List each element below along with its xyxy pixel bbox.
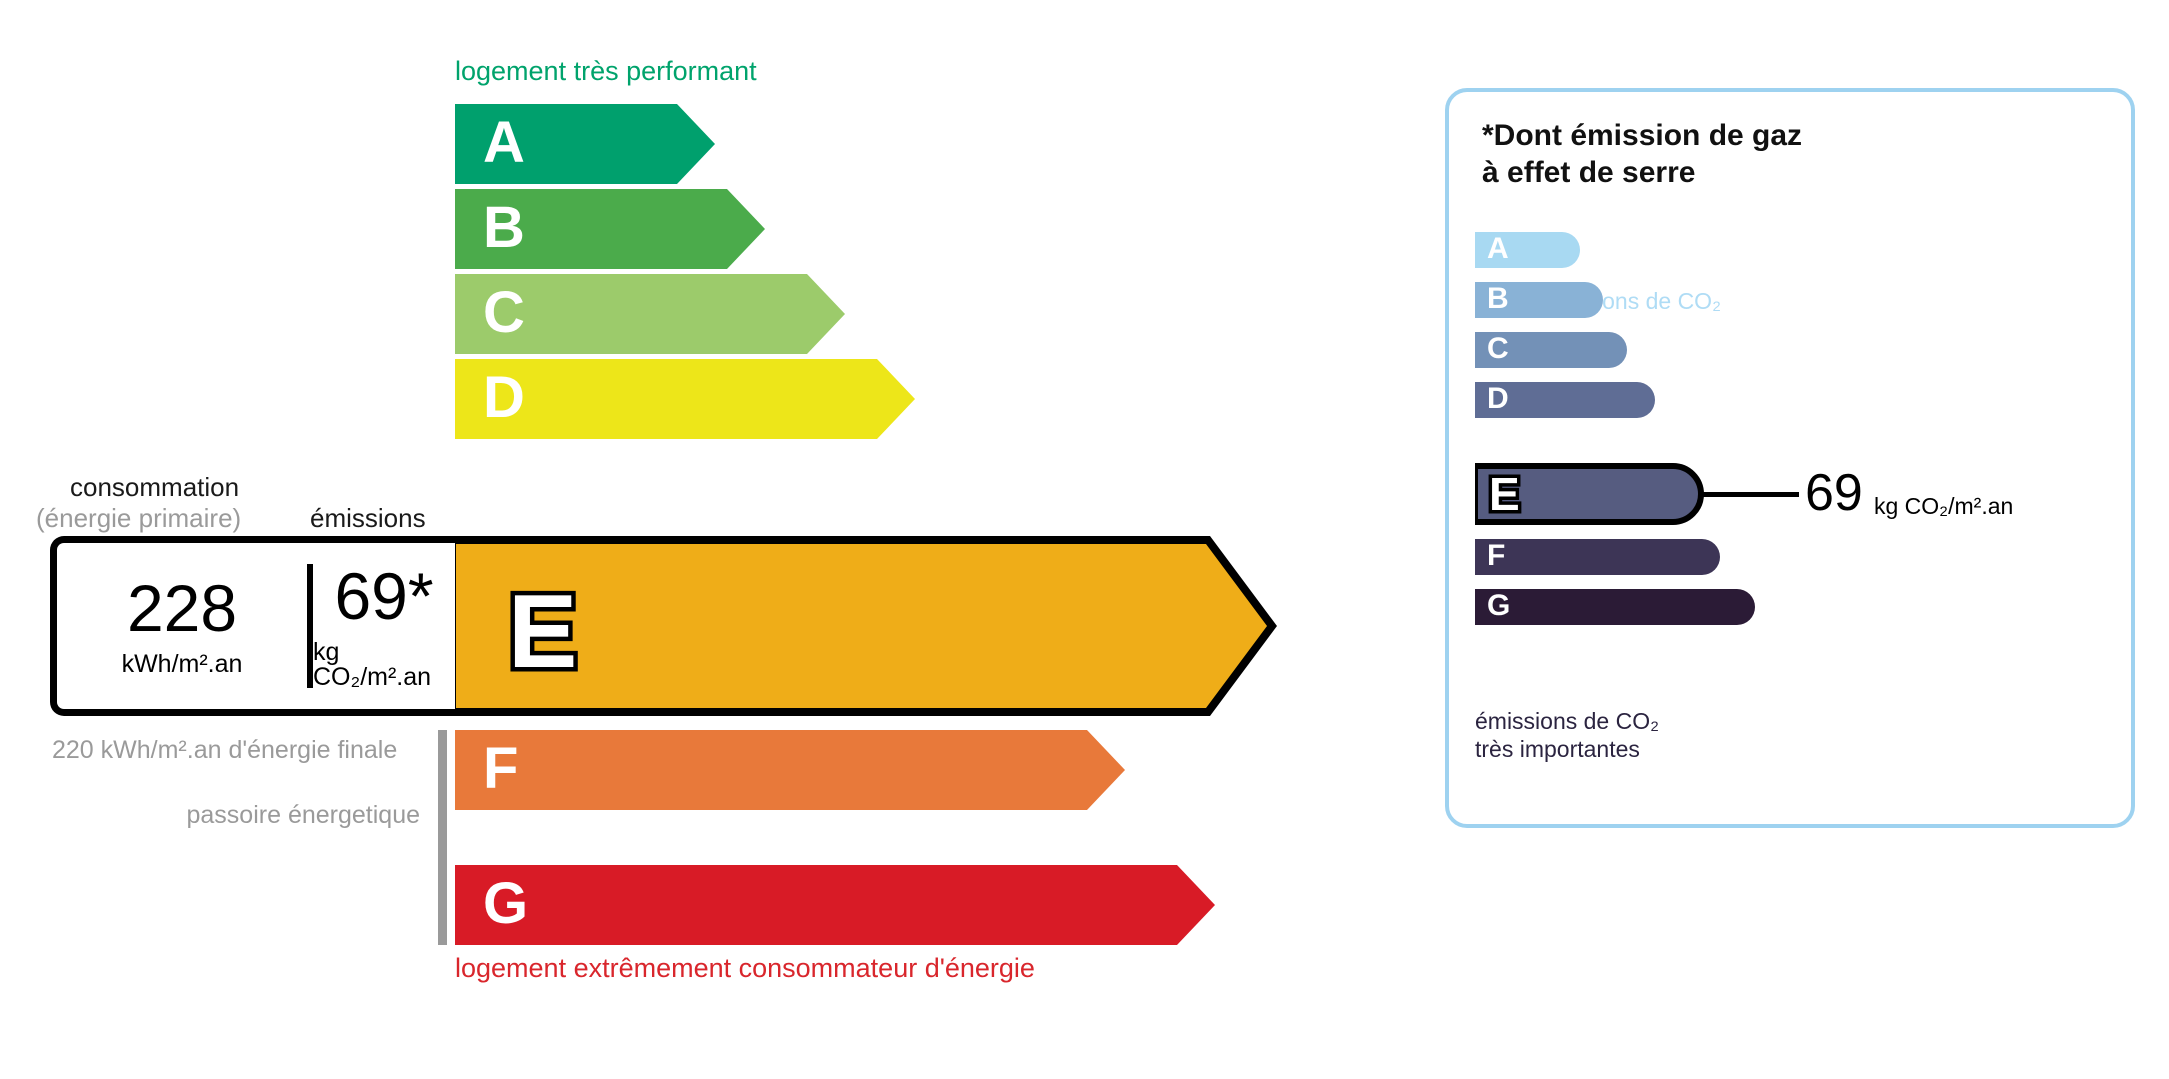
final-energy-note: 220 kWh/m².an d'énergie finale xyxy=(52,735,397,765)
dpe-ges-label: logement très performant A B C xyxy=(0,0,2169,1079)
ges-bar-f: F xyxy=(1475,539,1720,575)
consumption-header-label: consommation xyxy=(70,472,239,503)
svg-text:D: D xyxy=(483,365,525,430)
svg-text:C: C xyxy=(483,280,525,345)
energy-bar-a: A xyxy=(455,104,715,184)
ges-bar-b-letter: B xyxy=(1487,284,1509,314)
energy-bar-f: F xyxy=(455,730,1125,810)
ges-bar-c-letter: C xyxy=(1487,334,1509,364)
ges-bar-g-letter: G xyxy=(1487,591,1510,621)
primary-energy-value: 228 xyxy=(127,575,237,641)
svg-text:A: A xyxy=(483,110,525,175)
primary-energy-unit: kWh/m².an xyxy=(122,652,243,677)
emissions-header-label: émissions xyxy=(310,503,426,534)
primary-energy-sublabel: (énergie primaire) xyxy=(36,503,241,534)
energy-bar-b: B xyxy=(455,189,765,269)
primary-energy-value-cell: 228 kWh/m².an xyxy=(57,536,307,716)
ges-bar-d: D xyxy=(1475,382,1655,418)
svg-text:F: F xyxy=(483,736,518,801)
ges-panel: *Dont émission de gaz à effet de serre p… xyxy=(1445,88,2135,828)
ges-callout-leader-line xyxy=(1703,492,1799,497)
energy-bar-g: G xyxy=(455,865,1215,945)
ges-panel-title: *Dont émission de gaz à effet de serre xyxy=(1482,118,1802,191)
ges-bar-c: C xyxy=(1475,332,1627,368)
passoire-energetique-label: passoire énergetique xyxy=(180,800,420,830)
ges-callout-value: 69 xyxy=(1805,467,1863,519)
ges-bottom-caption: émissions de CO₂ très importantes xyxy=(1475,707,1659,763)
ges-callout-unit: kg CO₂/m².an xyxy=(1874,495,2013,518)
energy-bar-d: D xyxy=(455,359,915,439)
svg-text:B: B xyxy=(483,195,525,260)
ges-bar-e: E xyxy=(1475,463,1705,525)
ges-bar-g: G xyxy=(1475,589,1755,625)
ges-bar-b: B xyxy=(1475,282,1603,318)
ges-bar-d-letter: D xyxy=(1487,384,1509,414)
svg-text:E: E xyxy=(1489,468,1520,520)
ges-bar-a: A xyxy=(1475,232,1580,268)
energy-bar-c: C xyxy=(455,274,845,354)
energy-bar-e: E xyxy=(448,536,1278,716)
ges-bar-f-letter: F xyxy=(1487,541,1505,571)
energy-performance-chart: logement très performant A B C xyxy=(0,0,1300,1079)
svg-text:G: G xyxy=(483,871,528,936)
energy-bottom-caption: logement extrêmement consommateur d'éner… xyxy=(455,953,1035,984)
ges-emission-unit: kg CO₂/m².an xyxy=(313,640,455,690)
passoire-energetique-bracket xyxy=(438,730,447,945)
energy-top-caption: logement très performant xyxy=(455,56,757,87)
ges-emission-value-cell: 69* kg CO₂/m².an xyxy=(313,536,455,716)
svg-text:E: E xyxy=(508,574,577,690)
ges-bar-a-letter: A xyxy=(1487,234,1509,264)
ges-emission-value: 69* xyxy=(334,563,433,629)
